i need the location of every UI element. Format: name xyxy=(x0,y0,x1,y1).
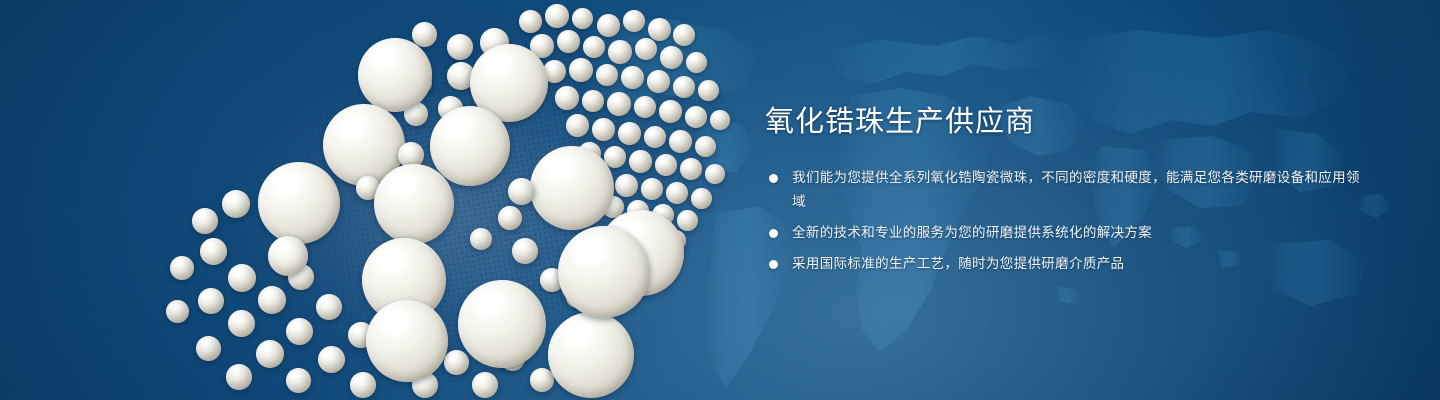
hero-banner: 氧化锆珠生产供应商 我们能为您提供全系列氧化锆陶瓷微珠，不同的密度和硬度，能满足… xyxy=(0,0,1440,400)
bullet-dot-icon xyxy=(769,174,778,183)
banner-feature-list: 我们能为您提供全系列氧化锆陶瓷微珠，不同的密度和硬度，能满足您各类研磨设备和应用… xyxy=(765,166,1365,276)
list-item-label: 全新的技术和专业的服务为您的研磨提供系统化的解决方案 xyxy=(792,225,1152,240)
list-item: 全新的技术和专业的服务为您的研磨提供系统化的解决方案 xyxy=(765,221,1365,245)
bullet-dot-icon xyxy=(769,229,778,238)
bullet-dot-icon xyxy=(769,260,778,269)
banner-text-content: 氧化锆珠生产供应商 我们能为您提供全系列氧化锆陶瓷微珠，不同的密度和硬度，能满足… xyxy=(765,104,1365,276)
list-item: 采用国际标准的生产工艺，随时为您提供研磨介质产品 xyxy=(765,252,1365,276)
list-item-label: 采用国际标准的生产工艺，随时为您提供研磨介质产品 xyxy=(792,256,1124,271)
banner-headline: 氧化锆珠生产供应商 xyxy=(765,104,1365,140)
list-item-label: 我们能为您提供全系列氧化锆陶瓷微珠，不同的密度和硬度，能满足您各类研磨设备和应用… xyxy=(792,170,1360,209)
zirconia-bead-cluster-image xyxy=(0,0,780,400)
list-item: 我们能为您提供全系列氧化锆陶瓷微珠，不同的密度和硬度，能满足您各类研磨设备和应用… xyxy=(765,166,1365,214)
